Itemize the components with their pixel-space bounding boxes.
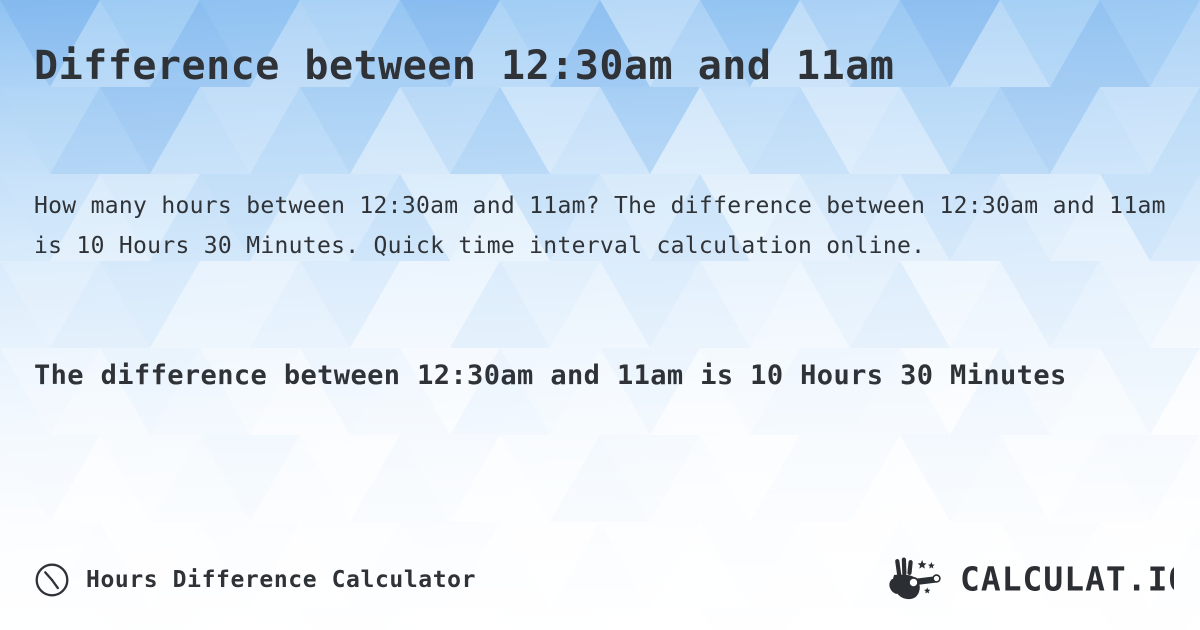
answer-heading: The difference between 12:30am and 11am … (34, 352, 1144, 400)
footer-label: Hours Difference Calculator (86, 567, 476, 593)
hand-magic-wand-icon (888, 557, 950, 603)
brand-wordmark-calculatio: CALCULAT.IO (960, 560, 1174, 600)
intro-paragraph: How many hours between 12:30am and 11am?… (34, 186, 1166, 266)
og-image-card: Difference between 12:30am and 11am How … (0, 0, 1200, 630)
brand-name-text: CALCULAT.IO (960, 561, 1174, 599)
footer: Hours Difference Calculator (34, 556, 1174, 604)
footer-brand-right[interactable]: CALCULAT.IO (888, 557, 1174, 603)
footer-brand-left: Hours Difference Calculator (34, 562, 476, 598)
content-layer: Difference between 12:30am and 11am How … (0, 0, 1200, 630)
clock-icon (34, 562, 70, 598)
page-title: Difference between 12:30am and 11am (34, 40, 1174, 92)
